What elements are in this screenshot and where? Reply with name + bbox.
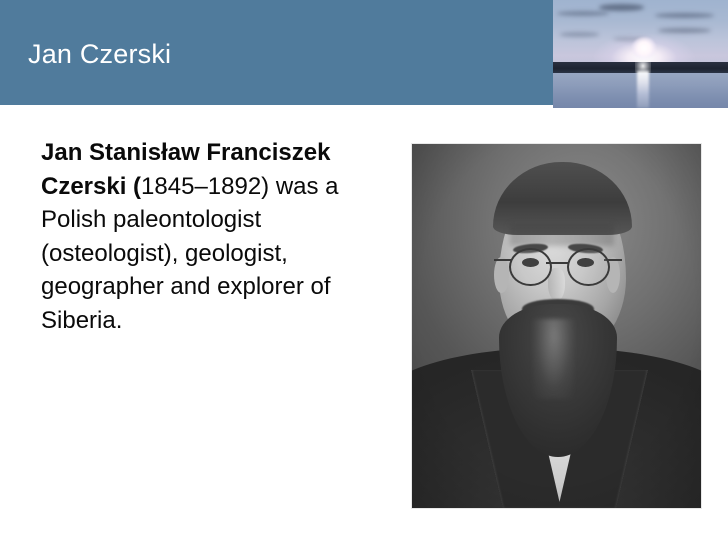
- cloud-band: [599, 4, 645, 10]
- sunset-over-water-photo: [553, 0, 728, 108]
- portrait-photo-jan-czerski: [411, 143, 702, 509]
- body-paragraph: Jan Stanisław Franciszek Czerski (1845–1…: [41, 136, 371, 337]
- sun-reflection: [637, 71, 649, 108]
- cloud-band: [560, 32, 599, 36]
- slide: Jan Czerski Jan Stanisław Franciszek Cze…: [0, 0, 728, 546]
- title-bar: Jan Czerski: [0, 0, 728, 105]
- photo-vignette: [412, 144, 701, 508]
- page-title: Jan Czerski: [28, 38, 171, 70]
